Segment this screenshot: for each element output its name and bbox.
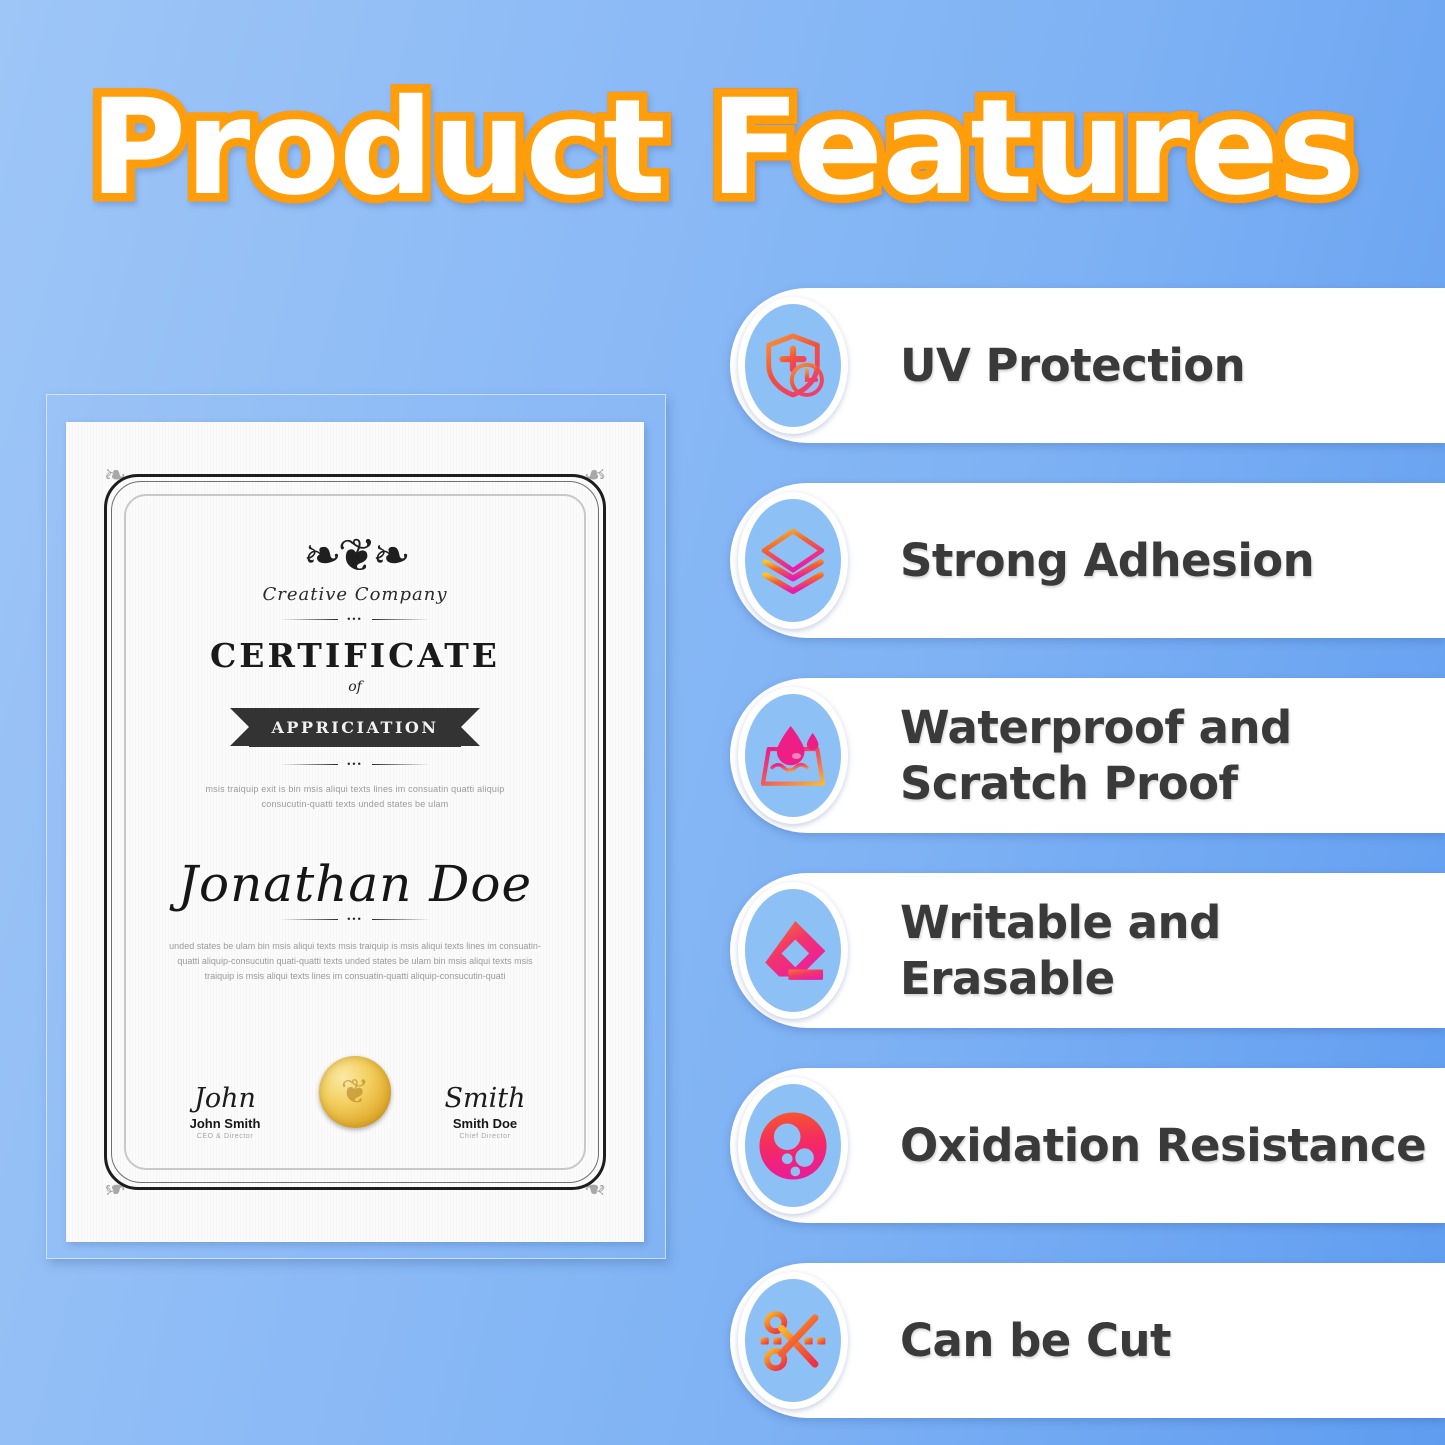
feature-row-writable-erasable[interactable]: Writable and Erasable — [730, 873, 1445, 1028]
certificate-body-text-top: msis traiquip exit is bin msis aliqui te… — [185, 782, 525, 812]
divider-dots: ••• — [347, 916, 362, 923]
corner-ornament-icon: ❧ — [98, 1174, 132, 1204]
certificate-title: CERTIFICATE — [136, 636, 574, 675]
shield-clock-icon — [738, 297, 848, 434]
certificate-divider: ••• — [280, 616, 430, 623]
certificate-seal-icon — [319, 1056, 391, 1128]
certificate-recipient-name: Jonathan Doe — [136, 856, 574, 912]
feature-row-uv-protection[interactable]: UV Protection — [730, 288, 1445, 443]
certificate-signature-row: John John Smith CEO & Director Smith Smi… — [136, 1056, 574, 1140]
water-drop-icon — [738, 687, 848, 824]
corner-ornament-icon: ❧ — [578, 1174, 612, 1204]
divider-dots: ••• — [347, 761, 362, 768]
certificate-divider: ••• — [280, 761, 430, 768]
signature-mark: John — [150, 1084, 300, 1114]
divider-dots: ••• — [347, 616, 362, 623]
certificate-body-text-bottom: unded states be ulam bin msis aliqui tex… — [165, 939, 545, 984]
page-title-fill: Product Features — [0, 82, 1445, 214]
signature-block-left: John John Smith CEO & Director — [150, 1084, 300, 1140]
feature-label: Oxidation Resistance — [900, 1118, 1426, 1174]
feature-row-strong-adhesion[interactable]: Strong Adhesion — [730, 483, 1445, 638]
feature-row-can-be-cut[interactable]: Can be Cut — [730, 1263, 1445, 1418]
certificate-sheet: ❧ ❧ ❧ ❧ ❧❦❧ Creative Company ••• CERTIFI… — [46, 394, 666, 1259]
feature-row-waterproof[interactable]: Waterproof and Scratch Proof — [730, 678, 1445, 833]
certificate-ribbon-banner: APPRICIATION — [249, 708, 461, 747]
page-title: Product Features Product Features — [0, 82, 1445, 222]
signature-block-right: Smith Smith Doe Chief Director — [410, 1084, 560, 1140]
feature-label: Can be Cut — [900, 1313, 1171, 1369]
certificate-of-label: of — [136, 679, 574, 695]
certificate-paper: ❧ ❧ ❧ ❧ ❧❦❧ Creative Company ••• CERTIFI… — [66, 422, 644, 1242]
feature-row-oxidation-resistance[interactable]: Oxidation Resistance — [730, 1068, 1445, 1223]
feature-label: Writable and Erasable — [900, 895, 1445, 1007]
certificate-divider: ••• — [280, 916, 430, 923]
scissors-icon — [738, 1272, 848, 1409]
certificate-company-name: Creative Company — [136, 584, 574, 605]
signature-role: CEO & Director — [150, 1133, 300, 1140]
signature-mark: Smith — [410, 1084, 560, 1114]
signature-name: John Smith — [150, 1116, 300, 1131]
feature-label: Waterproof and Scratch Proof — [900, 700, 1292, 812]
eraser-icon — [738, 882, 848, 1019]
corner-ornament-icon: ❧ — [98, 460, 132, 490]
corner-ornament-icon: ❧ — [578, 460, 612, 490]
infographic-canvas: Product Features Product Features ❧ ❧ ❧ … — [0, 0, 1445, 1445]
feature-list: UV Protection Strong Adhesion — [730, 288, 1445, 1418]
bubbles-circle-icon — [738, 1077, 848, 1214]
feature-label: Strong Adhesion — [900, 533, 1314, 589]
certificate-flourish-icon: ❧❦❧ — [136, 528, 574, 582]
signature-name: Smith Doe — [410, 1116, 560, 1131]
feature-label: UV Protection — [900, 338, 1245, 394]
certificate-content: ❧❦❧ Creative Company ••• CERTIFICATE of … — [136, 506, 574, 1158]
layers-icon — [738, 492, 848, 629]
signature-role: Chief Director — [410, 1133, 560, 1140]
